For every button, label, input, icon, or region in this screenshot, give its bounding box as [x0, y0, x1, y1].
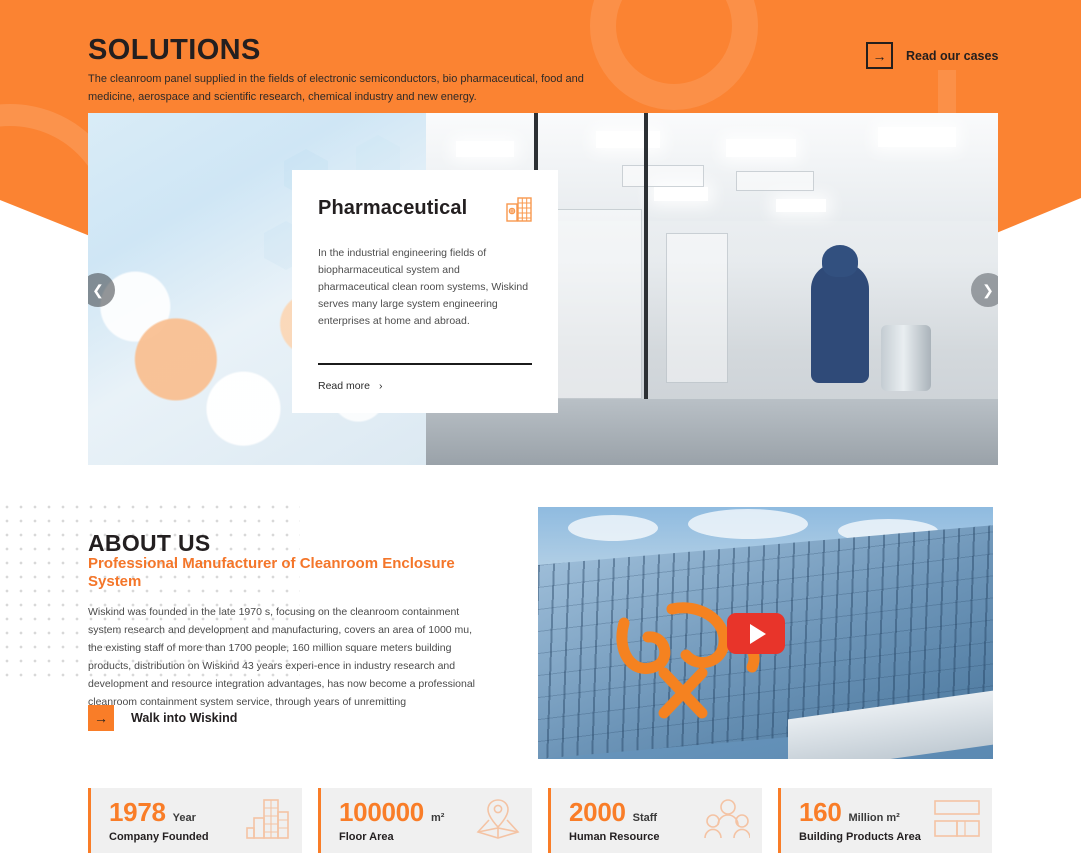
about-title: ABOUT US	[88, 530, 211, 557]
stats-row: 1978 Year Company Founded 100000 m² Floo…	[88, 788, 998, 853]
stat-card-company-founded: 1978 Year Company Founded	[88, 788, 302, 853]
stat-unit: Year	[173, 812, 196, 824]
process-tank	[881, 325, 931, 391]
about-subtitle: Professional Manufacturer of Cleanroom E…	[88, 555, 468, 591]
stat-card-floor-area: 100000 m² Floor Area	[318, 788, 532, 853]
stat-number: 2000	[569, 797, 626, 828]
read-our-cases-label: Read our cases	[906, 49, 998, 63]
page-subtitle: The cleanroom panel supplied in the fiel…	[88, 70, 598, 106]
stat-unit: Staff	[633, 812, 657, 824]
about-section: ABOUT US Professional Manufacturer of Cl…	[0, 495, 1081, 775]
stat-unit: m²	[431, 812, 444, 824]
pharmaceutical-building-icon	[506, 197, 532, 227]
about-video[interactable]	[538, 507, 993, 759]
stat-number: 100000	[339, 797, 424, 828]
buildings-icon	[246, 798, 290, 845]
page-title: SOLUTIONS	[88, 34, 261, 67]
chevron-left-icon: ❮	[92, 282, 104, 299]
read-more-label: Read more	[318, 380, 370, 392]
stat-card-building-products-area: 160 Million m² Building Products Area	[778, 788, 992, 853]
stat-number: 160	[799, 797, 841, 828]
slide-info-card: Pharmaceutical In the industrial enginee…	[292, 170, 558, 413]
walk-into-wiskind-label: Walk into Wiskind	[131, 711, 237, 725]
worker-head	[822, 245, 858, 277]
solutions-carousel[interactable]: Pharmaceutical In the industrial enginee…	[88, 113, 998, 465]
read-our-cases-button[interactable]: → Read our cases	[866, 42, 998, 69]
arrow-right-icon: →	[88, 705, 114, 731]
people-icon	[704, 798, 750, 845]
walk-into-wiskind-button[interactable]: → Walk into Wiskind	[88, 705, 237, 731]
stat-unit: Million m²	[848, 812, 899, 824]
panels-icon	[934, 798, 980, 843]
stat-card-human-resource: 2000 Staff Human Resource	[548, 788, 762, 853]
slide-description: In the industrial engineering fields of …	[318, 245, 532, 330]
play-triangle	[750, 624, 766, 644]
carousel-next-button[interactable]: ❯	[971, 273, 998, 307]
about-paragraph: Wiskind was founded in the late 1970 s, …	[88, 603, 478, 711]
wiskind-logo-sculpture	[606, 589, 806, 719]
card-divider	[318, 363, 532, 365]
stat-number: 1978	[109, 797, 166, 828]
cleanroom-worker	[811, 263, 869, 383]
solutions-hero: SOLUTIONS The cleanroom panel supplied i…	[0, 0, 1081, 300]
slide-title: Pharmaceutical	[318, 197, 467, 220]
arrow-right-icon: →	[866, 42, 893, 69]
map-pin-icon	[476, 798, 520, 845]
read-more-link[interactable]: Read more ›	[318, 380, 382, 392]
play-button-icon[interactable]	[727, 613, 785, 654]
chevron-right-icon: ❯	[982, 282, 994, 299]
chevron-right-icon: ›	[379, 380, 383, 392]
